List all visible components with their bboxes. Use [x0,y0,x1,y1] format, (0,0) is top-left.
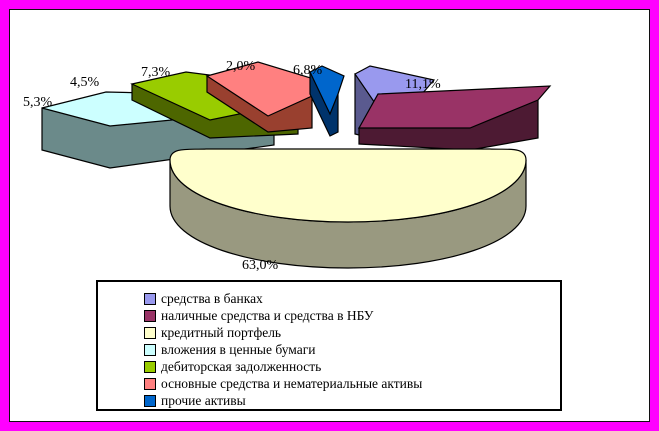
slice-percent-label: 6,8% [293,64,322,78]
slice-percent-label: 63,0% [242,259,278,273]
legend-item-list: средства в банках наличные средства и ср… [144,290,422,409]
legend-item-label: дебиторская задолженность [161,360,321,374]
legend-color-swatch-icon [144,327,156,339]
legend-item-label: средства в банках [161,292,263,306]
legend-item-sredstva-v-bankakh[interactable]: средства в банках [144,290,422,307]
pie-slice-nalichnye-sredstva-nbu [359,86,550,150]
legend-item-label: кредитный портфель [161,326,281,340]
legend-item-kreditnyy-portfel[interactable]: кредитный портфель [144,324,422,341]
legend-color-swatch-icon [144,378,156,390]
legend-item-debitorskaya-zadolzhennost[interactable]: дебиторская задолженность [144,358,422,375]
slice-percent-label: 4,5% [70,76,99,90]
slice-percent-label: 5,3% [23,96,52,110]
pie-chart-graphic [10,10,649,280]
legend-item-label: основные средства и нематериальные актив… [161,377,422,391]
chart-page: 5,3% 4,5% 7,3% 2,0% 6,8% 11,1% 63,0% сре… [0,0,659,431]
legend-item-label: вложения в ценные бумаги [161,343,316,357]
legend-item-label: наличные средства и средства в НБУ [161,309,373,323]
legend-color-swatch-icon [144,395,156,407]
legend-item-vlozheniya-v-tsennye-bumagi[interactable]: вложения в ценные бумаги [144,341,422,358]
legend-color-swatch-icon [144,293,156,305]
legend-color-swatch-icon [144,361,156,373]
legend-item-nalichnye-sredstva-nbu[interactable]: наличные средства и средства в НБУ [144,307,422,324]
slice-percent-label: 2,0% [226,60,255,74]
slice-percent-label: 7,3% [141,66,170,80]
pie-chart-plot-area: 5,3% 4,5% 7,3% 2,0% 6,8% 11,1% 63,0% сре… [10,10,649,421]
legend-item-prochie-aktivy[interactable]: прочие активы [144,392,422,409]
legend-color-swatch-icon [144,344,156,356]
legend-item-label: прочие активы [161,394,246,408]
slice-percent-label: 11,1% [405,78,441,92]
pie-slice-kreditnyy-portfel [170,149,526,268]
legend-item-osnovnye-sredstva[interactable]: основные средства и нематериальные актив… [144,375,422,392]
legend-color-swatch-icon [144,310,156,322]
chart-legend: средства в банках наличные средства и ср… [96,280,562,411]
